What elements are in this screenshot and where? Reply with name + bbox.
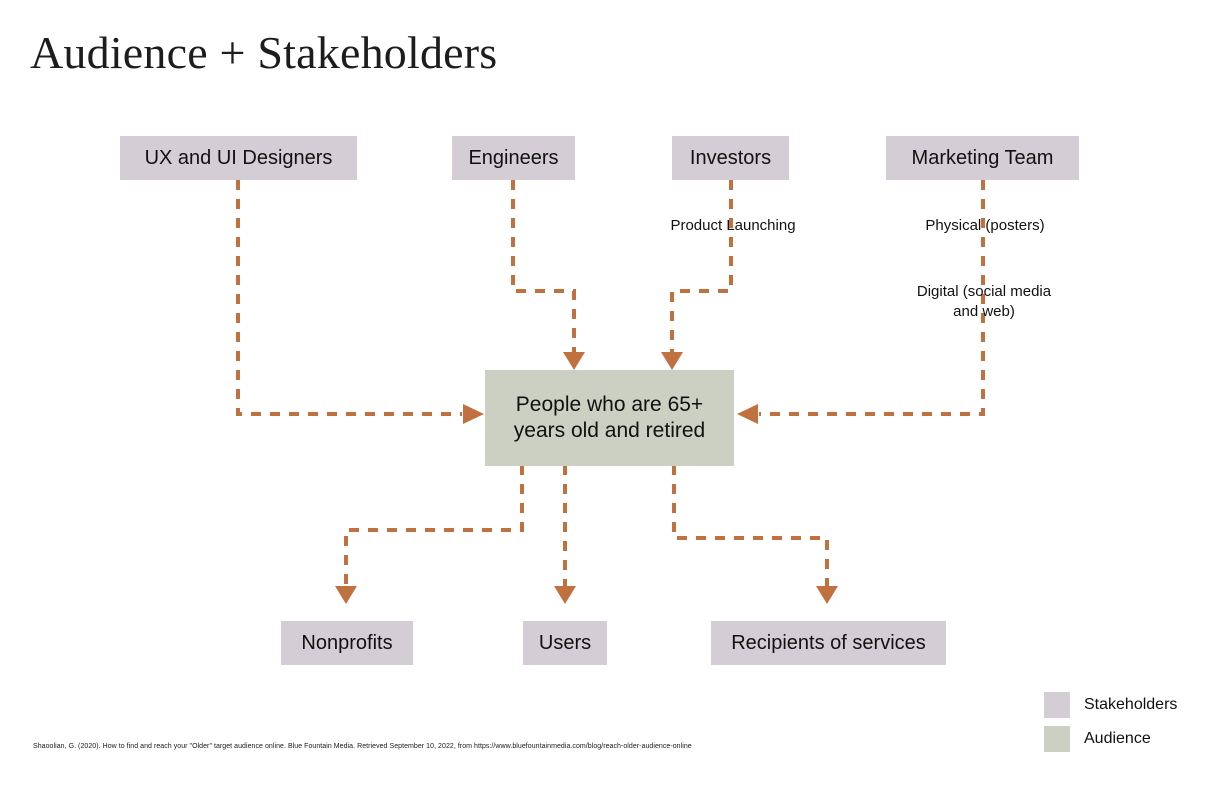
connector-engineers-to-audience bbox=[513, 180, 574, 352]
node-ux-designers[interactable]: UX and UI Designers bbox=[120, 136, 357, 180]
legend: Stakeholders Audience bbox=[1044, 690, 1214, 758]
arrowhead-ux bbox=[463, 404, 484, 424]
legend-item-stakeholders: Stakeholders bbox=[1044, 690, 1214, 720]
legend-item-audience: Audience bbox=[1044, 724, 1214, 754]
slide-canvas: Audience + Stakeholders bbox=[0, 0, 1224, 792]
node-users[interactable]: Users bbox=[523, 621, 607, 665]
arrowhead-recipients bbox=[816, 586, 838, 604]
legend-label: Audience bbox=[1084, 730, 1151, 748]
node-label: Marketing Team bbox=[912, 146, 1054, 170]
node-label: Engineers bbox=[468, 146, 558, 170]
node-marketing-team[interactable]: Marketing Team bbox=[886, 136, 1079, 180]
node-audience[interactable]: People who are 65+ years old and retired bbox=[485, 370, 734, 466]
node-label: Recipients of services bbox=[731, 631, 926, 655]
legend-label: Stakeholders bbox=[1084, 696, 1177, 714]
arrowhead-users bbox=[554, 586, 576, 604]
node-label: People who are 65+ years old and retired bbox=[499, 392, 720, 443]
node-recipients[interactable]: Recipients of services bbox=[711, 621, 946, 665]
connector-ux-to-audience bbox=[238, 180, 462, 414]
edge-label-physical-posters: Physical (posters) bbox=[895, 216, 1075, 236]
connector-investors-to-audience bbox=[672, 180, 731, 352]
node-label: Users bbox=[539, 631, 591, 655]
edge-label-digital-social: Digital (social media and web) bbox=[888, 282, 1080, 321]
edge-label-product-launching: Product Launching bbox=[640, 216, 826, 236]
connector-audience-to-nonprofits bbox=[346, 465, 522, 586]
arrowhead-investors bbox=[661, 352, 683, 370]
legend-swatch-stakeholders bbox=[1044, 692, 1070, 718]
arrowhead-engineers bbox=[563, 352, 585, 370]
node-nonprofits[interactable]: Nonprofits bbox=[281, 621, 413, 665]
arrowhead-nonprofits bbox=[335, 586, 357, 604]
node-label: Nonprofits bbox=[301, 631, 392, 655]
arrowhead-marketing bbox=[737, 404, 758, 424]
legend-swatch-audience bbox=[1044, 726, 1070, 752]
citation-text: Shaoolian, G. (2020). How to find and re… bbox=[33, 743, 692, 750]
node-engineers[interactable]: Engineers bbox=[452, 136, 575, 180]
connector-audience-to-recipients bbox=[674, 465, 827, 586]
node-label: UX and UI Designers bbox=[145, 146, 333, 170]
node-label: Investors bbox=[690, 146, 771, 170]
node-investors[interactable]: Investors bbox=[672, 136, 789, 180]
